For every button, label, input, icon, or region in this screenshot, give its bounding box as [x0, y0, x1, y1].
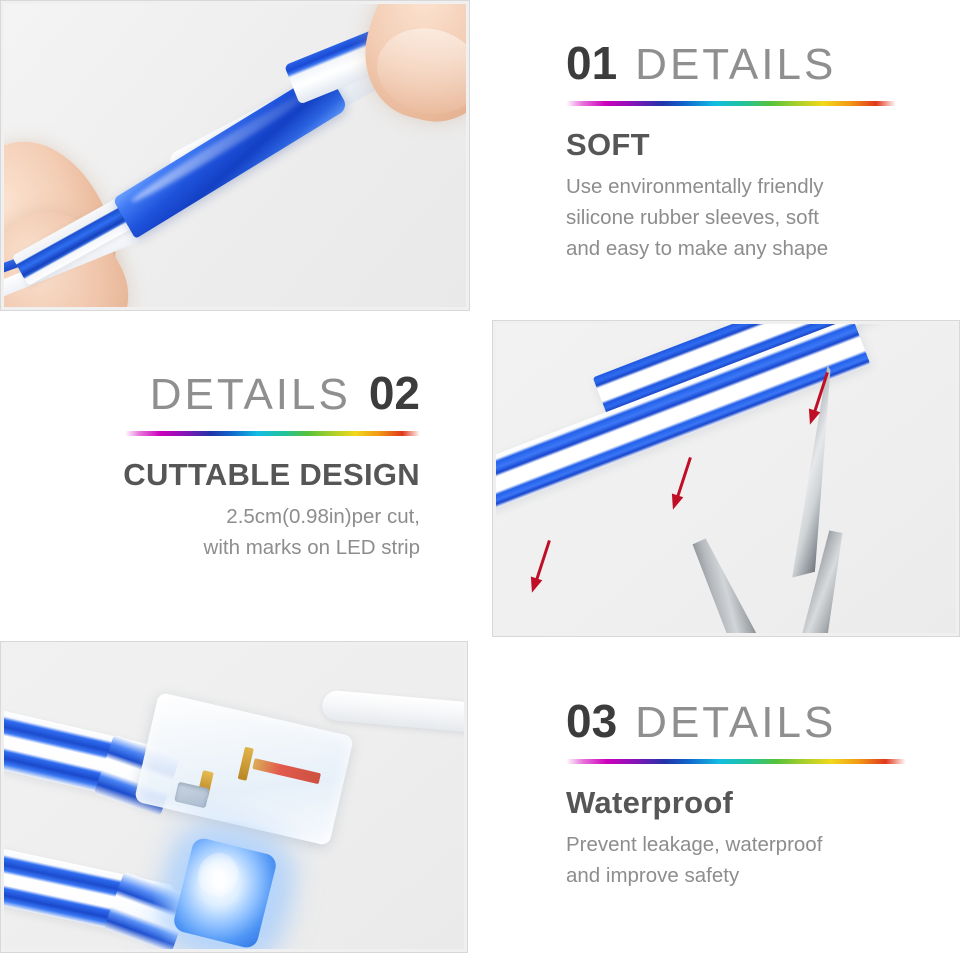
body-line: and improve safety	[566, 860, 906, 891]
rainbow-divider-01	[566, 101, 896, 106]
panel-body-01: Use environmentally friendly silicone ru…	[566, 171, 896, 264]
panel-word-03: DETAILS	[635, 701, 836, 745]
infographic-page: 01 DETAILS SOFT Use environmentally frie…	[0, 0, 960, 960]
photo-panel-cuttable	[492, 320, 960, 637]
body-line: silicone rubber sleeves, soft	[566, 202, 896, 233]
panel-title-03: Waterproof	[566, 786, 906, 820]
body-line: and easy to make any shape	[566, 233, 896, 264]
panel-body-02: 2.5cm(0.98in)per cut, with marks on LED …	[60, 501, 420, 563]
photo-cuttable-inner	[496, 324, 956, 633]
rainbow-divider-03	[566, 759, 906, 764]
heading-01: 01 DETAILS	[566, 40, 896, 87]
heading-03: 03 DETAILS	[566, 698, 906, 745]
text-block-02: DETAILS 02 CUTTABLE DESIGN 2.5cm(0.98in)…	[60, 370, 420, 563]
panel-title-01: SOFT	[566, 128, 896, 162]
photo-panel-waterproof	[0, 641, 468, 953]
panel-word-02: DETAILS	[150, 373, 351, 417]
body-line: 2.5cm(0.98in)per cut,	[60, 501, 420, 532]
heading-02: DETAILS 02	[60, 370, 420, 417]
panel-word-01: DETAILS	[635, 43, 836, 87]
panel-body-03: Prevent leakage, waterproof and improve …	[566, 829, 906, 891]
photo-soft-inner	[4, 4, 466, 307]
rainbow-divider-02	[125, 431, 420, 436]
panel-number-03: 03	[566, 698, 617, 744]
text-block-03: 03 DETAILS Waterproof Prevent leakage, w…	[566, 698, 906, 891]
panel-title-02: CUTTABLE DESIGN	[60, 458, 420, 492]
body-line: Prevent leakage, waterproof	[566, 829, 906, 860]
panel-number-02: 02	[369, 370, 420, 416]
photo-panel-soft	[0, 0, 470, 311]
body-line: with marks on LED strip	[60, 532, 420, 563]
panel-number-01: 01	[566, 40, 617, 86]
photo-waterproof-inner	[4, 645, 464, 949]
body-line: Use environmentally friendly	[566, 171, 896, 202]
text-block-01: 01 DETAILS SOFT Use environmentally frie…	[566, 40, 896, 265]
